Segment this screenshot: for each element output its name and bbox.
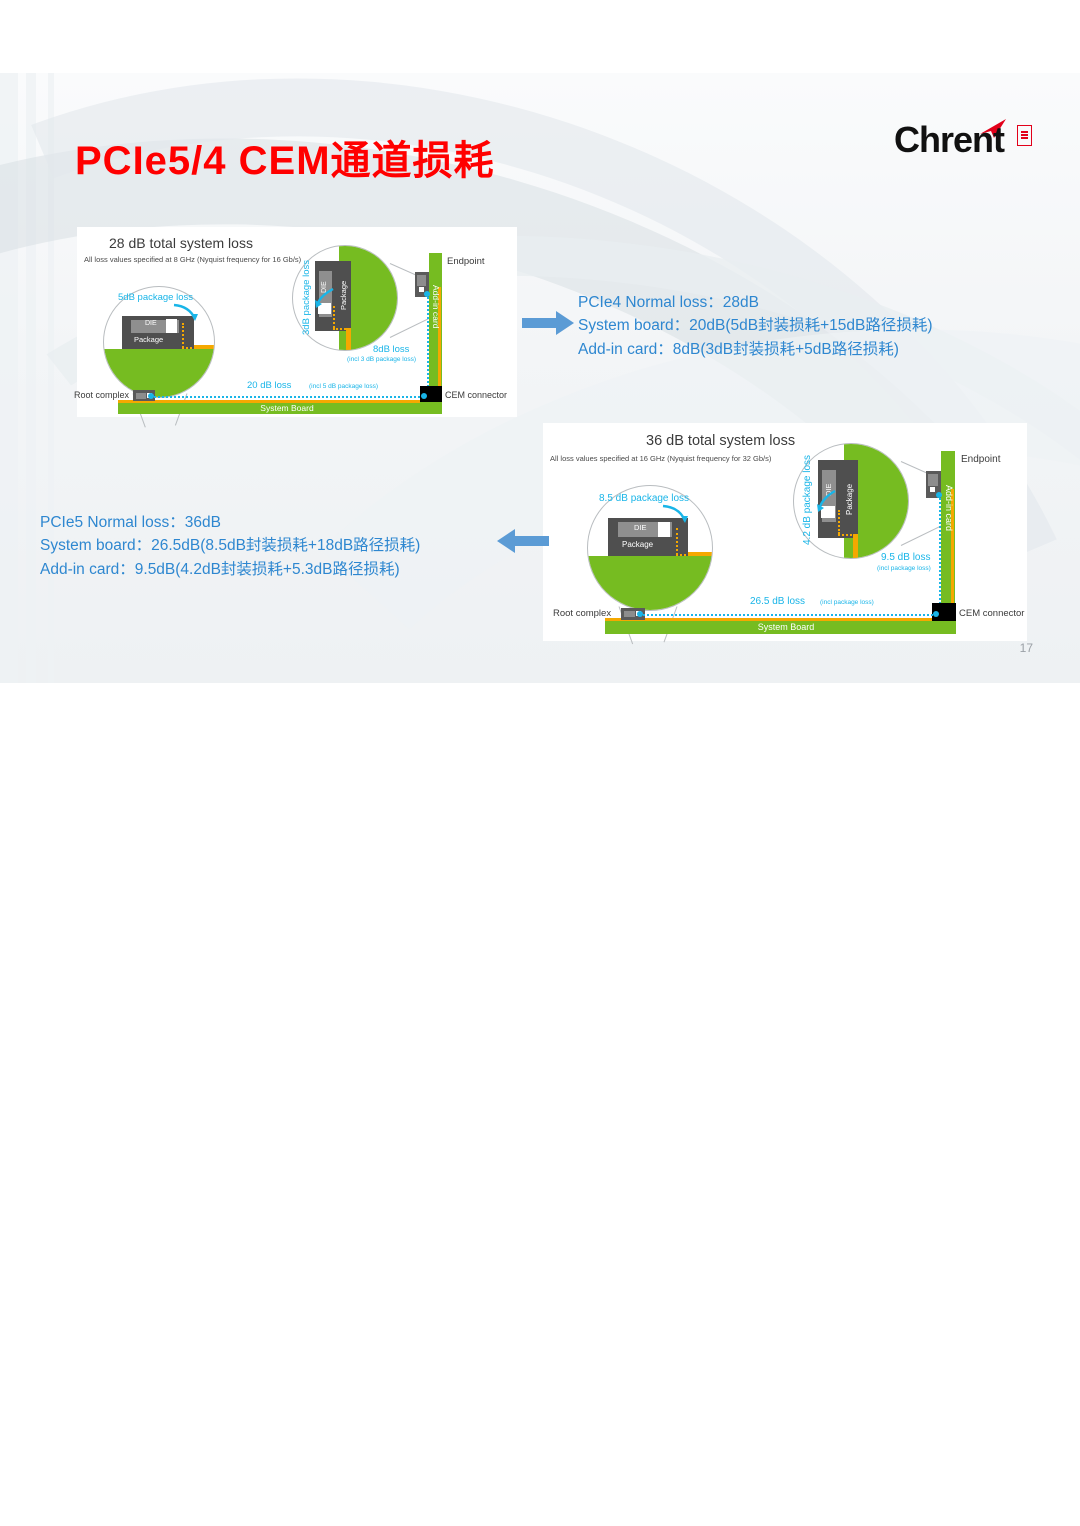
pcie4-root-complex-die [136,393,146,399]
annotation-pcie4-line1: PCIe4 Normal loss：28dB [578,291,932,314]
pcie4-endpoint-pad [419,287,424,292]
pcie5-right-curve-arrow-icon [815,489,839,517]
pcie4-addin-signal-node [424,291,430,297]
pcie5-system-signal-path [640,614,936,616]
pcie4-addin-card-label: Add-in card [431,285,441,328]
pcie4-right-curve-arrow-icon [313,287,337,313]
pcie4-cem-connector-label: CEM connector [445,390,507,400]
pcie4-system-loss-label: 20 dB loss [247,380,291,391]
package-trace-vertical [676,528,678,555]
diagram-pcie5: 36 dB total system loss All loss values … [543,423,1027,641]
magnified-orange-trace [853,534,858,558]
pcie5-right-bubble-label: 4.2 dB package loss [802,455,813,545]
logo-text: Chrent [894,122,1004,158]
pcie5-system-signal-node [933,611,939,617]
pcie4-endpoint-label: Endpoint [447,256,485,267]
magnified-board [587,556,713,611]
page-number: 17 [1020,641,1033,655]
annotation-pcie5: PCIe5 Normal loss：36dB System board：26.5… [40,511,420,581]
annotation-pcie4-line3: Add-in card：8dB(3dB封装损耗+5dB路径损耗) [578,338,932,361]
annotation-pcie4: PCIe4 Normal loss：28dB System board：20dB… [578,291,932,361]
pcie5-root-complex-label: Root complex [553,608,611,619]
pcie5-left-curve-arrow-icon [661,502,691,526]
magnified-orange-trace [194,345,215,349]
background-stripe [48,73,54,683]
annotation-pcie4-line2: System board：20dB(5dB封装损耗+15dB路径损耗) [578,314,932,337]
annotation-pcie5-line3: Add-in card：9.5dB(4.2dB封装损耗+5.3dB路径损耗) [40,558,420,581]
package-label: Package [622,540,653,549]
pcie5-endpoint-label: Endpoint [961,454,1000,465]
magnified-orange-trace [688,552,712,556]
pcie4-system-board-label: System Board [227,403,347,413]
pcie5-addin-signal-path [939,495,941,607]
pcie4-root-complex-label: Root complex [74,390,129,400]
pcie5-system-board-label: System Board [721,622,851,632]
pcie4-endpoint-die [417,275,426,286]
annotation-pcie5-line1: PCIe5 Normal loss：36dB [40,511,420,534]
red-seal-icon [1017,125,1032,146]
pcie4-addin-loss-note: (incl 3 dB package loss) [347,356,416,363]
pcie5-addin-signal-node [936,492,942,498]
pcie4-left-curve-arrow-icon [172,301,202,323]
page-title: PCIe5/4 CEM通道损耗 [75,128,495,186]
pcie5-addin-loss-note: (incl package loss) [877,565,931,572]
pcie5-system-loss-label: 26.5 dB loss [750,596,805,607]
background-stripe [26,73,36,683]
magnified-orange-trace [346,328,351,350]
pcie5-addin-card-label: Add-in card [944,485,954,531]
package-label: Package [845,484,854,515]
die-label: DIE [145,320,157,327]
pcie4-right-bubble-label: 3dB package loss [301,260,312,335]
pcie4-system-signal-path [151,396,424,398]
pcie4-system-loss-note: (incl 5 dB package loss) [309,383,378,390]
annotation-pcie5-line2: System board：26.5dB(8.5dB封装损耗+18dB路径损耗) [40,534,420,557]
pcie5-endpoint-pad [930,487,935,492]
package-label: Package [339,281,348,310]
blue-arrow-right-icon [522,310,574,336]
background-stripe [0,73,18,683]
pcie5-root-complex-die [624,611,635,617]
package-trace-vertical [182,323,184,348]
pcie4-diagram-subtitle: All loss values specified at 8 GHz (Nyqu… [84,255,301,264]
pcie4-addin-loss-label: 8dB loss [373,344,409,355]
pcie4-addin-signal-path [427,294,429,391]
pcie5-addin-loss-label: 9.5 dB loss [881,552,930,563]
pcie5-system-loss-note: (incl package loss) [820,599,874,606]
pcie4-system-signal-node [421,393,427,399]
pcie5-cem-connector-label: CEM connector [959,608,1024,619]
pcie4-system-signal-node [148,393,154,399]
pcie5-diagram-subtitle: All loss values specified at 16 GHz (Nyq… [550,454,771,463]
pcie4-diagram-title: 28 dB total system loss [109,235,253,251]
pcie5-diagram-title: 36 dB total system loss [646,433,795,449]
pcie5-endpoint-die [928,474,938,486]
package-label: Package [134,335,163,344]
die-label: DIE [634,523,647,532]
pcie5-system-board-trace [605,618,932,621]
brand-logo: Chrent [894,118,1032,162]
diagram-pcie4: 28 dB total system loss All loss values … [77,227,517,417]
blue-arrow-left-icon [497,528,549,554]
pcie5-system-signal-node [637,611,643,617]
